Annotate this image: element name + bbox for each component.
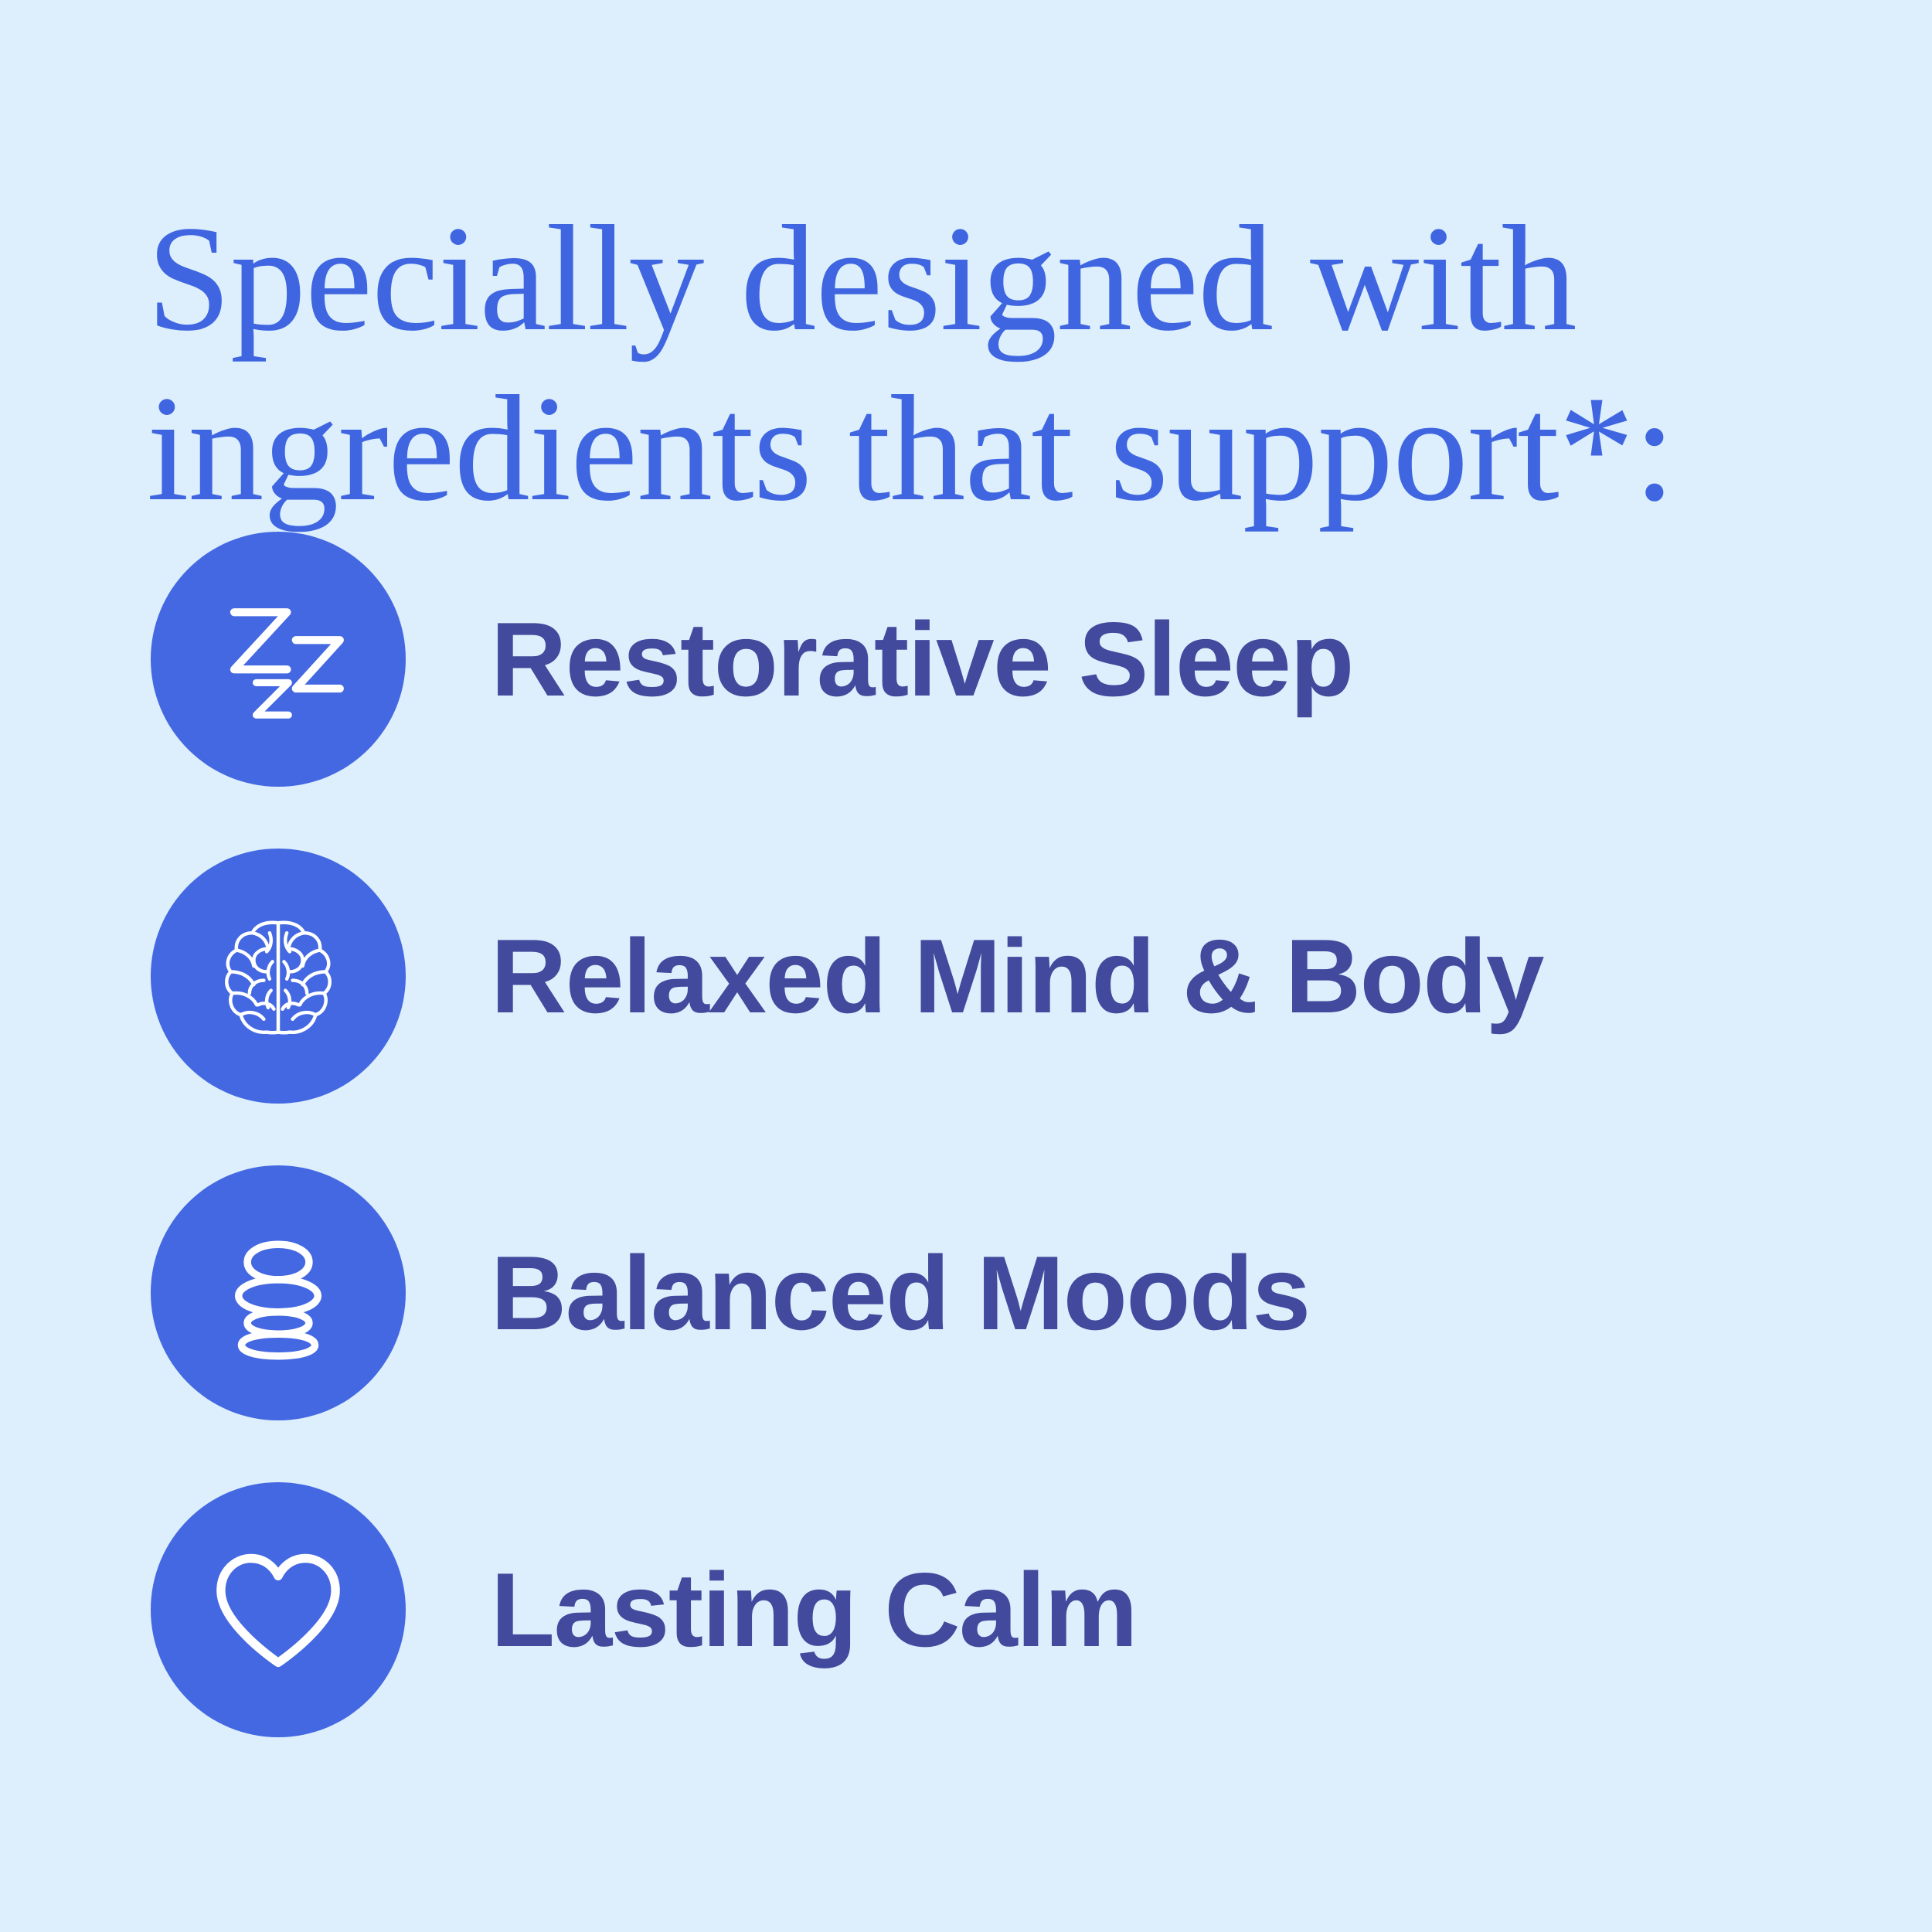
brain-icon-badge [151, 849, 406, 1104]
list-item-label: Restorative Sleep [491, 607, 1353, 712]
sleep-zzz-icon [205, 586, 352, 733]
promo-card: Specially designed with ingredients that… [0, 0, 1932, 1932]
list-item-label: Lasting Calm [491, 1557, 1137, 1662]
benefits-list: Restorative Sleep [151, 532, 1851, 1737]
list-item: Lasting Calm [151, 1482, 1851, 1737]
sleep-zzz-icon-badge [151, 532, 406, 787]
list-item-label: Balanced Moods [491, 1240, 1310, 1345]
balanced-stones-icon [205, 1219, 352, 1366]
list-item-label: Relaxed Mind & Body [491, 923, 1543, 1029]
list-item: Restorative Sleep [151, 532, 1851, 787]
heart-icon [205, 1536, 352, 1683]
heart-icon-badge [151, 1482, 406, 1737]
page-title-line-2: ingredients that support*: [147, 365, 1675, 532]
page-title-line-1: Specially designed with [147, 195, 1577, 362]
page-title: Specially designed with ingredients that… [147, 194, 1747, 533]
list-item: Balanced Moods [151, 1165, 1851, 1420]
brain-icon [206, 904, 350, 1048]
list-item: Relaxed Mind & Body [151, 849, 1851, 1104]
balanced-stones-icon-badge [151, 1165, 406, 1420]
